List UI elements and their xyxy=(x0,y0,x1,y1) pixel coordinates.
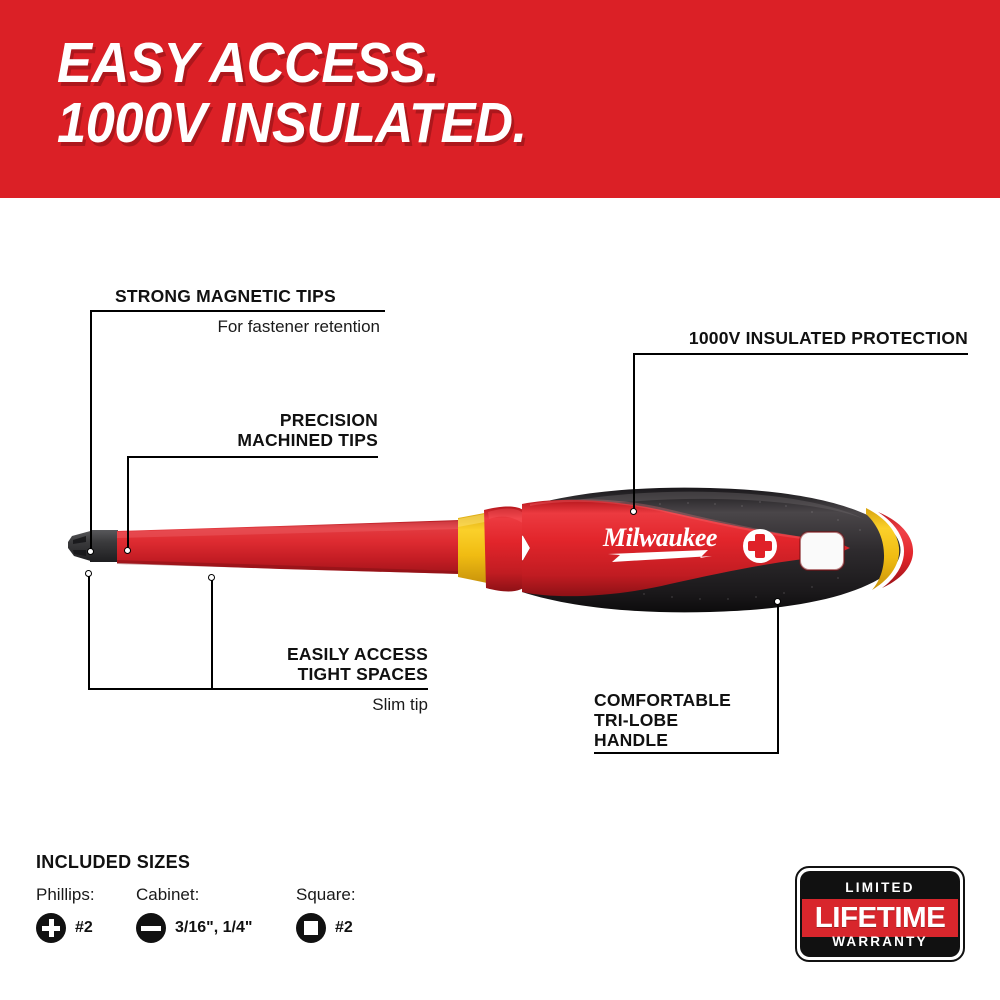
square-bit-icon xyxy=(296,913,326,943)
headline-line-2: 1000V INSULATED. xyxy=(57,93,527,153)
leader-dot-handle xyxy=(774,598,781,605)
leader-dot-insulated xyxy=(630,508,637,515)
callout-title-line-2: TIGHT SPACES xyxy=(200,664,428,684)
included-sizes-section: INCLUDED SIZES Phillips: #2 Cabinet: xyxy=(36,852,190,955)
leader-line-magnetic-v xyxy=(90,310,92,552)
size-item-phillips: Phillips: #2 xyxy=(36,885,95,943)
leader-line-precision-h xyxy=(127,456,378,458)
milwaukee-logo: Milwaukee xyxy=(602,523,717,562)
size-label: Square: xyxy=(296,885,356,905)
callout-precision-machined-tips: PRECISION MACHINED TIPS xyxy=(145,410,378,450)
size-label: Cabinet: xyxy=(136,885,252,905)
leader-dot-precision xyxy=(124,547,131,554)
badge-lifetime-band: LIFETIME xyxy=(802,899,958,937)
callout-comfortable-tri-lobe-handle: COMFORTABLE TRI-LOBE HANDLE xyxy=(594,690,794,750)
leader-line-handle-h xyxy=(594,752,779,754)
leader-line-insulated-h xyxy=(633,353,968,355)
leader-line-precision-v xyxy=(127,456,129,551)
callout-title-line-3: HANDLE xyxy=(594,730,794,750)
leader-dot-magnetic xyxy=(87,548,94,555)
leader-line-insulated-v xyxy=(633,353,635,511)
leader-line-handle-v xyxy=(777,604,779,753)
size-value: #2 xyxy=(335,919,353,937)
badge-top-text: LIMITED xyxy=(800,880,960,895)
limited-lifetime-warranty-badge: LIMITED LIFETIME WARRANTY xyxy=(795,866,965,962)
leader-line-tight-spaces-h xyxy=(88,688,428,690)
size-item-square: Square: #2 xyxy=(296,885,356,943)
badge-middle-text: LIFETIME xyxy=(815,902,946,935)
svg-text:Milwaukee: Milwaukee xyxy=(602,523,717,552)
callout-insulated-protection: 1000V INSULATED PROTECTION xyxy=(620,328,968,348)
size-item-cabinet: Cabinet: 3/16", 1/4" xyxy=(136,885,252,943)
infographic-page: EASY ACCESS. 1000V INSULATED. xyxy=(0,0,1000,1000)
callout-easily-access-sub: Slim tip xyxy=(200,694,428,716)
included-sizes-heading: INCLUDED SIZES xyxy=(36,852,190,873)
headline-line-1: EASY ACCESS. xyxy=(57,33,527,93)
badge-inner-panel: LIMITED LIFETIME WARRANTY xyxy=(800,871,960,957)
size-value: #2 xyxy=(75,919,93,937)
callout-title-line-2: TRI-LOBE xyxy=(594,710,794,730)
callout-strong-magnetic-tips: STRONG MAGNETIC TIPS xyxy=(115,286,395,306)
callout-strong-magnetic-tips-sub: For fastener retention xyxy=(95,316,380,338)
leader-dot-tight-spaces-1 xyxy=(85,570,92,577)
callout-title: STRONG MAGNETIC TIPS xyxy=(115,286,395,306)
leader-dot-tight-spaces-2 xyxy=(208,574,215,581)
size-label: Phillips: xyxy=(36,885,95,905)
callout-subtitle: For fastener retention xyxy=(95,316,380,338)
phillips-bit-icon xyxy=(36,913,66,943)
callout-title-line-1: EASILY ACCESS xyxy=(200,644,428,664)
leader-line-tight-spaces-v2 xyxy=(211,580,213,689)
screwdriver-product-image: Milwaukee xyxy=(60,480,940,620)
callout-subtitle: Slim tip xyxy=(200,694,428,716)
header-banner: EASY ACCESS. 1000V INSULATED. xyxy=(0,0,1000,198)
included-sizes-row: Phillips: #2 Cabinet: 3/16", 1/4" xyxy=(36,885,190,955)
leader-line-tight-spaces-v1 xyxy=(88,576,90,689)
badge-bottom-text: WARRANTY xyxy=(800,934,960,949)
page-headline: EASY ACCESS. 1000V INSULATED. xyxy=(57,33,527,153)
size-value: 3/16", 1/4" xyxy=(175,919,252,937)
leader-line-magnetic-h xyxy=(90,310,385,312)
callout-title-line-2: MACHINED TIPS xyxy=(145,430,378,450)
callout-title-line-1: COMFORTABLE xyxy=(594,690,794,710)
callout-easily-access-tight-spaces: EASILY ACCESS TIGHT SPACES xyxy=(200,644,428,684)
callout-title: 1000V INSULATED PROTECTION xyxy=(620,328,968,348)
callout-title-line-1: PRECISION xyxy=(145,410,378,430)
phillips-badge-icon xyxy=(743,529,777,563)
slotted-bit-icon xyxy=(136,913,166,943)
